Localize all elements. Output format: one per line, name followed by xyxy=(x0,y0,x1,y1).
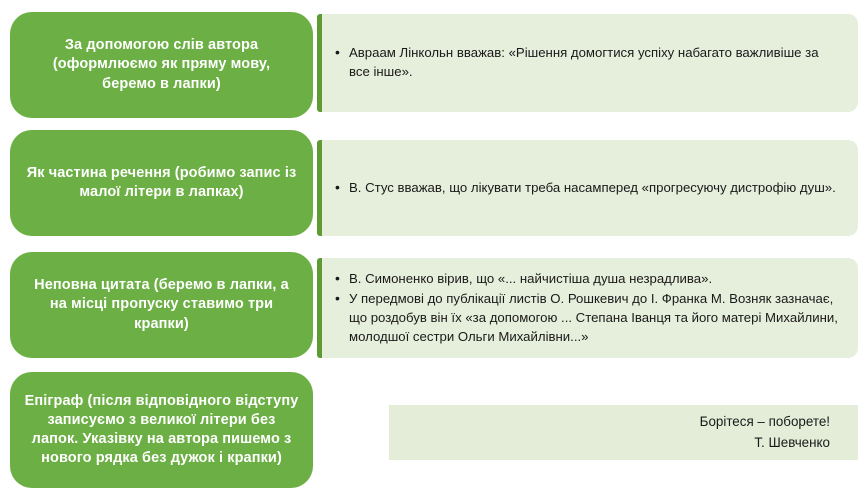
rule-panel-label: Як частина речення (робимо запис із мало… xyxy=(24,164,299,202)
rule-panel-part-of-sentence: Як частина речення (робимо запис із мало… xyxy=(10,130,313,236)
example-box-part-of-sentence: В. Стус вважав, що лікувати треба насамп… xyxy=(317,140,858,236)
rule-panel-label: Неповна цитата (беремо в лапки, а на міс… xyxy=(24,276,299,333)
example-box-epigraph: Борітеся – поборете! Т. Шевченко xyxy=(389,405,858,460)
epigraph-quote: Борітеся – поборете! xyxy=(700,412,830,432)
list-item: В. Симоненко вірив, що «... найчистіша д… xyxy=(335,270,842,289)
list-item: Авраам Лінкольн вважав: «Рішення домогти… xyxy=(335,44,842,81)
rule-panel-label: Епіграф (після відповідного відступу зап… xyxy=(24,392,299,469)
example-box-incomplete-quote: В. Симоненко вірив, що «... найчистіша д… xyxy=(317,258,858,358)
rule-panel-author-words: За допомогою слів автора (оформлюємо як … xyxy=(10,12,313,118)
rule-panel-label: За допомогою слів автора (оформлюємо як … xyxy=(24,36,299,93)
list-item: У передмові до публікації листів О. Рошк… xyxy=(335,290,842,346)
rule-panel-epigraph: Епіграф (після відповідного відступу зап… xyxy=(10,372,313,488)
accent-bar xyxy=(317,14,322,112)
example-box-author-words: Авраам Лінкольн вважав: «Рішення домогти… xyxy=(317,14,858,112)
quotation-rules-slide: За допомогою слів автора (оформлюємо як … xyxy=(0,0,868,500)
list-item: В. Стус вважав, що лікувати треба насамп… xyxy=(335,179,842,198)
example-list: Авраам Лінкольн вважав: «Рішення домогти… xyxy=(317,44,858,81)
rule-panel-incomplete-quote: Неповна цитата (беремо в лапки, а на міс… xyxy=(10,252,313,358)
accent-bar xyxy=(317,140,322,236)
example-list: В. Симоненко вірив, що «... найчистіша д… xyxy=(317,270,858,347)
accent-bar xyxy=(317,258,322,358)
example-list: В. Стус вважав, що лікувати треба насамп… xyxy=(317,179,858,198)
epigraph-author: Т. Шевченко xyxy=(754,433,830,453)
